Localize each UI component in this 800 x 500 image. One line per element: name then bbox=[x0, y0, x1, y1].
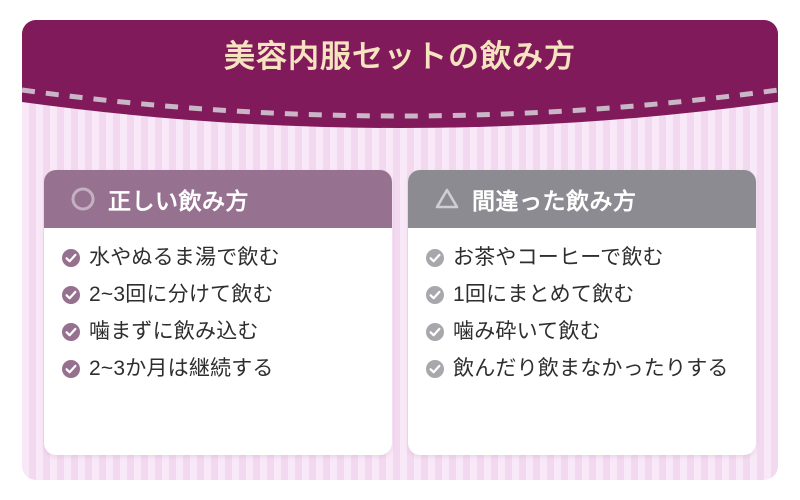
circle-outline-icon bbox=[70, 186, 96, 212]
card-wrong-body: お茶やコーヒーで飲む 1回にまとめて飲む bbox=[408, 228, 756, 455]
list-item: 噛み砕いて飲む bbox=[426, 318, 742, 346]
check-circle-icon bbox=[62, 286, 80, 304]
check-circle-icon bbox=[426, 249, 444, 267]
check-circle-icon bbox=[62, 249, 80, 267]
list-item: 噛まずに飲み込む bbox=[62, 318, 378, 346]
triangle-outline-icon bbox=[434, 186, 460, 212]
list-item-label: 水やぬるま湯で飲む bbox=[89, 244, 280, 272]
wrong-item-list: お茶やコーヒーで飲む 1回にまとめて飲む bbox=[426, 244, 742, 384]
correct-item-list: 水やぬるま湯で飲む 2~3回に分けて飲む bbox=[62, 244, 378, 384]
list-item: 2~3回に分けて飲む bbox=[62, 281, 378, 309]
check-circle-icon bbox=[426, 360, 444, 378]
page-title: 美容内服セットの飲み方 bbox=[22, 38, 778, 75]
card-correct-title: 正しい飲み方 bbox=[108, 182, 249, 216]
list-item-label: お茶やコーヒーで飲む bbox=[453, 244, 664, 272]
check-circle-icon bbox=[62, 360, 80, 378]
list-item: 2~3か月は継続する bbox=[62, 355, 378, 383]
check-circle-icon bbox=[62, 323, 80, 341]
list-item-label: 1回にまとめて飲む bbox=[453, 281, 634, 309]
list-item: 水やぬるま湯で飲む bbox=[62, 244, 378, 272]
card-correct-header: 正しい飲み方 bbox=[44, 170, 392, 228]
comparison-columns: 正しい飲み方 水やぬるま湯で飲む bbox=[22, 170, 778, 455]
card-wrong-title: 間違った飲み方 bbox=[472, 182, 637, 216]
list-item-label: 噛み砕いて飲む bbox=[453, 318, 601, 346]
list-item-label: 飲んだり飲まなかったりする bbox=[453, 355, 729, 383]
list-item: 1回にまとめて飲む bbox=[426, 281, 742, 309]
list-item: お茶やコーヒーで飲む bbox=[426, 244, 742, 272]
list-item-label: 噛まずに飲み込む bbox=[89, 318, 259, 346]
list-item-label: 2~3回に分けて飲む bbox=[89, 281, 274, 309]
card-correct-way: 正しい飲み方 水やぬるま湯で飲む bbox=[44, 170, 392, 455]
infographic-root: 美容内服セットの飲み方 正しい飲み方 水やぬるま湯で飲む bbox=[0, 0, 800, 500]
check-circle-icon bbox=[426, 286, 444, 304]
list-item: 飲んだり飲まなかったりする bbox=[426, 355, 742, 383]
card-wrong-header: 間違った飲み方 bbox=[408, 170, 756, 228]
check-circle-icon bbox=[426, 323, 444, 341]
list-item-label: 2~3か月は継続する bbox=[89, 355, 274, 383]
card-correct-body: 水やぬるま湯で飲む 2~3回に分けて飲む bbox=[44, 228, 392, 455]
card-wrong-way: 間違った飲み方 お茶やコーヒーで飲む bbox=[408, 170, 756, 455]
